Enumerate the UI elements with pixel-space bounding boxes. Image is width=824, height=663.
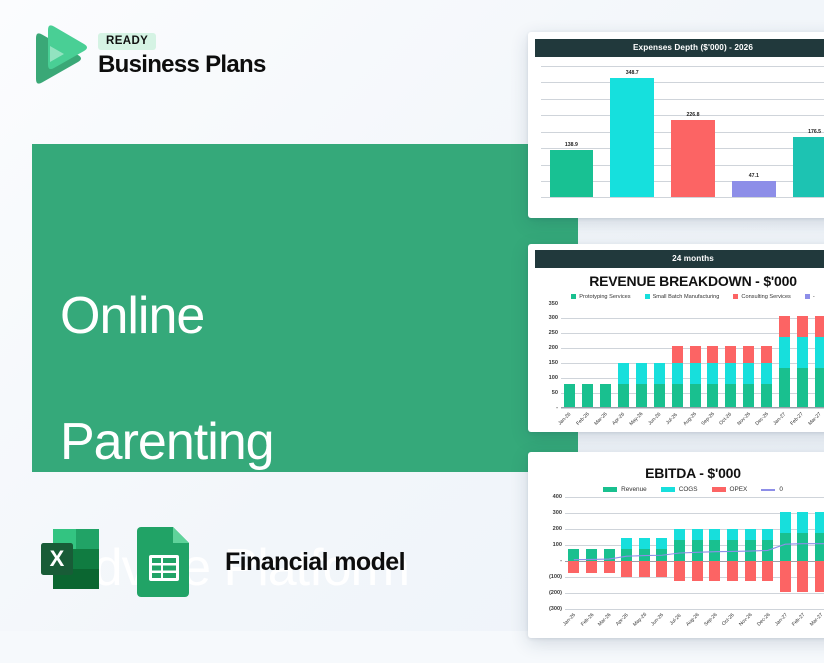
bar-cell [811,304,824,407]
bar-segment [797,316,808,338]
legend-label: 0 [779,486,783,493]
bar-cell [597,304,615,407]
legend-item: OPEX [712,486,748,493]
bar-cell: 138.9 [541,66,602,197]
bar-segment [654,363,665,384]
bar-cell [633,304,651,407]
legend-label: COGS [679,486,698,493]
legend-label: - [813,294,815,300]
expenses-bars: 138.9348.7226.847.1176.5 [541,66,824,197]
bar-segment [672,384,683,407]
legend-item: Consulting Services [733,294,790,300]
format-row: X Financial model [33,521,405,604]
bar-cell [740,304,758,407]
y-axis-tick: 250 [549,330,558,336]
stacked-bar [815,316,824,407]
bar-segment [815,368,824,406]
bar-segment [797,337,808,368]
bar-segment [743,363,754,384]
y-axis-tick: 300 [553,510,562,516]
bar-segment [618,384,629,407]
bar-segment [564,384,575,406]
revenue-bars [561,304,824,407]
stacked-bar [582,384,593,406]
bar-segment [725,384,736,407]
chart-card-revenue: 24 months REVENUE BREAKDOWN - $'000 Prot… [528,244,824,432]
revenue-plot-area: 35030025020015010050- [561,304,824,408]
legend-swatch [712,487,726,492]
x-axis-tick: Mar-27 [812,609,824,633]
gridline [561,408,824,409]
chart-card-ebitda: EBITDA - $'000 RevenueCOGSOPEX0 40030020… [528,452,824,638]
bar-segment [707,346,718,364]
x-axis-tick-label: Mar-27 [809,612,824,636]
bar-cell: 348.7 [602,66,663,197]
x-axis-tick: Feb-27 [794,609,812,633]
bar-segment [690,346,701,364]
ready-badge: READY [98,33,156,51]
y-axis-tick: 300 [549,315,558,321]
brand-logo: READY Business Plans [26,24,266,86]
legend-swatch [733,294,738,299]
play-triangle-logo-icon [26,24,88,86]
bar-segment [618,363,629,384]
legend-swatch [661,487,675,492]
bar: 176.5 [793,137,824,197]
ebitda-zero-line-series [565,497,824,609]
y-axis-tick: 100 [549,375,558,381]
expenses-chart-title: Expenses Depth ($'000) - 2026 [535,39,824,57]
stacked-bar [654,363,665,406]
microsoft-excel-icon: X [33,521,111,604]
y-axis-tick: 150 [549,360,558,366]
stacked-bar [779,316,790,407]
revenue-x-axis: Jan-26Feb-26Mar-26Apr-26May-26Jun-26Jul-… [561,408,824,433]
stacked-bar [690,346,701,407]
revenue-chart-title: REVENUE BREAKDOWN - $'000 [535,273,824,289]
y-axis-tick: - [560,558,562,564]
bar-segment [600,384,611,406]
legend-swatch [603,487,617,492]
y-axis-tick: 350 [549,301,558,307]
legend-item: - [805,294,815,300]
bar-segment [761,346,772,364]
legend-label: Consulting Services [741,294,790,300]
bar-cell: 226.8 [663,66,724,197]
stacked-bar [707,346,718,407]
legend-label: Prototyping Services [579,294,630,300]
legend-item: Small Batch Manufacturing [645,294,720,300]
hero-line-1: Online [60,285,530,348]
gridline [565,609,824,610]
bar-segment [707,363,718,384]
bar-segment [707,384,718,407]
bar-segment [779,368,790,406]
ebitda-chart-title: EBITDA - $'000 [535,465,824,481]
bar-segment [690,384,701,407]
x-axis-tick: Nov-26 [740,408,758,433]
x-axis-tick: May-26 [633,408,651,433]
stacked-bar [797,316,808,407]
y-axis-tick: 100 [553,542,562,548]
bar-value-label: 226.8 [686,112,699,118]
legend-swatch [645,294,650,299]
y-axis-tick: 200 [553,526,562,532]
svg-text:X: X [50,546,65,571]
hero-line-2: Parenting [60,411,530,474]
bar: 138.9 [550,150,594,197]
bar-value-label: 47.1 [749,173,759,179]
y-axis-tick: (200) [549,590,562,596]
y-axis-tick: 50 [552,390,558,396]
poster-background: READY Business Plans Online Parenting Ad… [0,0,824,631]
legend-item: 0 [761,486,783,493]
stacked-bar [636,363,647,406]
legend-label: OPEX [730,486,748,493]
bar-segment [725,363,736,384]
stacked-bar [725,346,736,407]
bar-segment [815,316,824,338]
bar-segment [815,337,824,368]
bar-value-label: 348.7 [626,70,639,76]
revenue-period-header: 24 months [535,250,824,268]
financial-model-label: Financial model [225,548,405,577]
bar-segment [636,384,647,407]
legend-swatch [761,489,775,491]
x-axis-tick: Dec-26 [759,609,777,633]
stacked-bar [618,363,629,406]
bar-cell [579,304,597,407]
bar-segment [761,384,772,407]
x-axis-tick: Nov-26 [741,609,759,633]
revenue-legend: Prototyping ServicesSmall Batch Manufact… [535,294,824,300]
y-axis-tick: (100) [549,574,562,580]
bar-cell [722,304,740,407]
stacked-bar [564,384,575,406]
stacked-bar [761,346,772,407]
bar-segment [725,346,736,364]
legend-label: Revenue [621,486,647,493]
bar-segment [672,346,683,364]
x-axis-tick: Mar-27 [811,408,824,433]
bar-segment [654,384,665,407]
bar-cell [793,304,811,407]
stacked-bar [743,346,754,407]
bar-cell: 47.1 [723,66,784,197]
x-axis-tick: Oct-26 [722,408,740,433]
ebitda-x-axis: Jan-26Feb-26Mar-26Apr-26May-26Jun-26Jul-… [565,609,824,633]
y-axis-tick: 400 [553,494,562,500]
bar-segment [672,363,683,384]
chart-card-expenses: Expenses Depth ($'000) - 2026 138.9348.7… [528,32,824,218]
legend-item: COGS [661,486,698,493]
bar-value-label: 138.9 [565,142,578,148]
bar-cell [758,304,776,407]
bar-segment [743,384,754,407]
legend-item: Prototyping Services [571,294,630,300]
y-axis-tick: (300) [549,606,562,612]
bar: 47.1 [732,181,776,197]
bar-cell [561,304,579,407]
bar: 226.8 [671,120,715,197]
expenses-plot-area: 138.9348.7226.847.1176.5 [541,66,824,198]
bar-segment [779,316,790,338]
bar-segment [761,363,772,384]
legend-swatch [571,294,576,299]
bar-cell [704,304,722,407]
bar: 348.7 [610,78,654,196]
bar-segment [636,363,647,384]
brand-name: Business Plans [98,52,266,77]
bar-cell [668,304,686,407]
y-axis-tick: 200 [549,345,558,351]
y-axis-tick: - [556,405,558,411]
bar-segment [582,384,593,406]
bar-cell [776,304,794,407]
google-sheets-icon [129,521,201,604]
bar-cell [650,304,668,407]
stacked-bar [672,346,683,407]
bar-cell: 176.5 [784,66,824,197]
bar-cell [686,304,704,407]
bar-cell [615,304,633,407]
bar-segment [797,368,808,406]
legend-swatch [805,294,810,299]
ebitda-legend: RevenueCOGSOPEX0 [535,486,824,493]
bar-segment [690,363,701,384]
bar-segment [743,346,754,364]
legend-item: Revenue [603,486,647,493]
bar-segment [779,337,790,368]
legend-label: Small Batch Manufacturing [653,294,720,300]
bar-value-label: 176.5 [808,129,821,135]
stacked-bar [600,384,611,406]
x-axis-tick: Jan-26 [565,609,583,633]
ebitda-plot-area: 400300200100-(100)(200)(300) [565,497,824,609]
